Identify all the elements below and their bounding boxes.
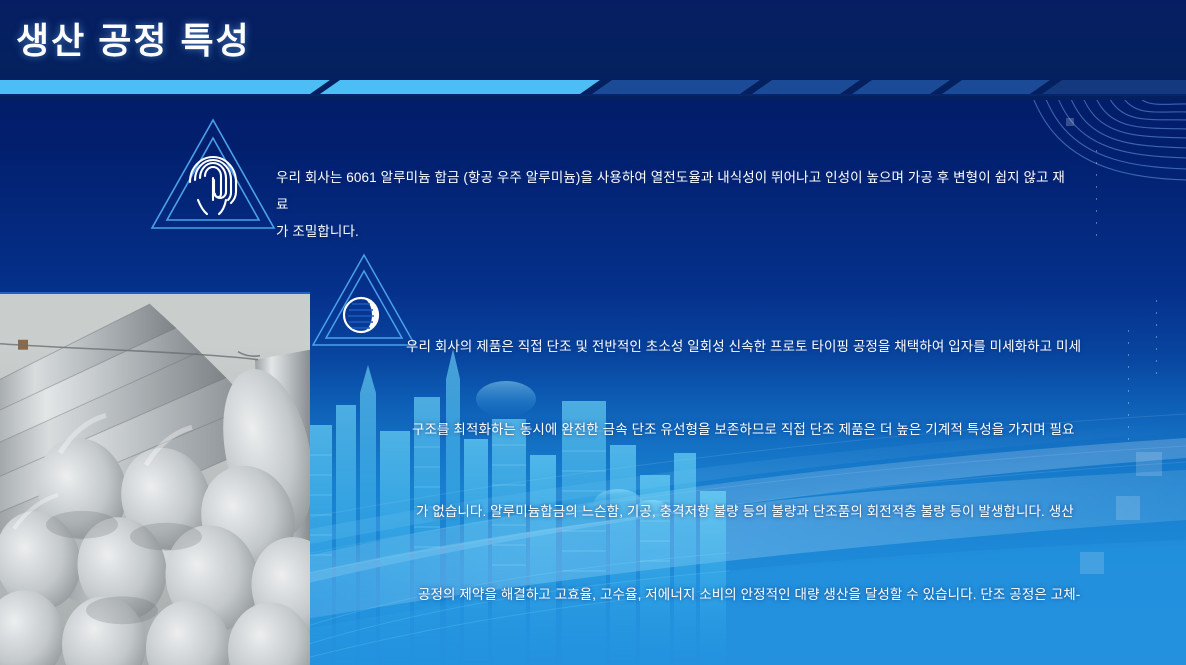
body-line: 가 없습니다. 알루미늄합금의 느슨함, 기공, 충격저항 불량 등의 불량과 …: [406, 498, 1146, 526]
body-line: 구조를 최적화하는 동시에 완전한 금속 단조 유선형을 보존하므로 직접 단조…: [406, 416, 1146, 444]
body-line: 공정의 제약을 해결하고 고효율, 고수율, 저에너지 소비의 안정적인 대량 …: [406, 581, 1146, 609]
header-chevron-bar: [0, 78, 1186, 96]
body-line: 우리 회사의 제품은 직접 단조 및 전반적인 초소성 일회성 신속한 프로토 …: [406, 333, 1146, 361]
body-paragraph: 우리 회사의 제품은 직접 단조 및 전반적인 초소성 일회성 신속한 프로토 …: [406, 278, 1146, 665]
intro-paragraph: 우리 회사는 6061 알루미늄 합금 (항공 우주 알루미늄)을 사용하여 열…: [276, 164, 1076, 245]
badge-fingerprint: [148, 116, 278, 236]
badge-globe: [310, 252, 418, 352]
aluminum-billets-photo: [0, 292, 310, 665]
page-title: 생산 공정 특성: [16, 12, 251, 64]
slide-root: 생산 공정 특성: [0, 0, 1186, 665]
